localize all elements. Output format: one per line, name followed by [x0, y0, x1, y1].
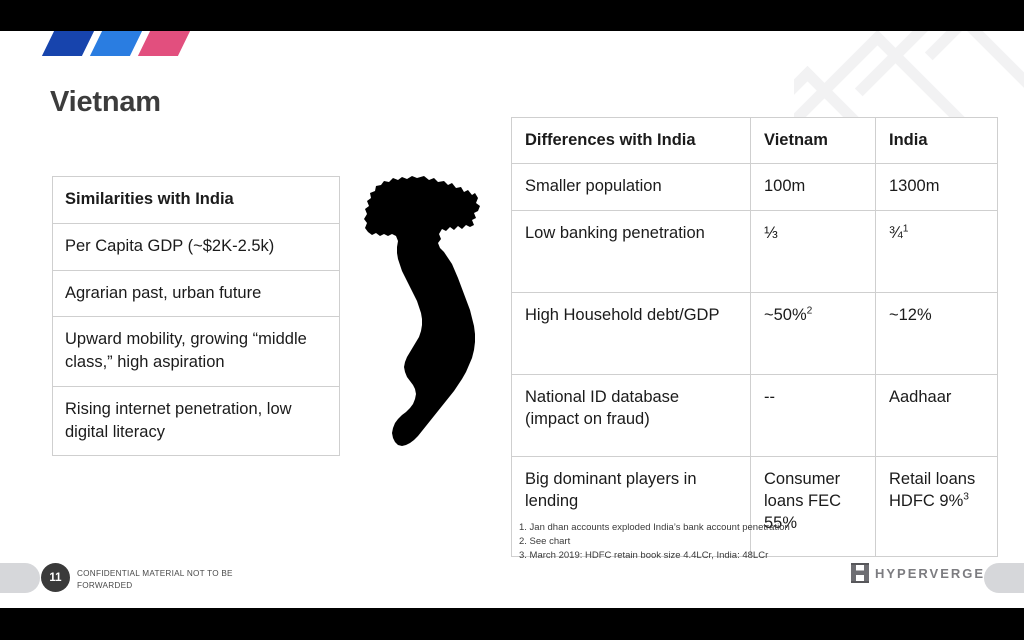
- similarity-item: Rising internet penetration, low digital…: [53, 386, 340, 456]
- difference-india-value: ~12%: [876, 292, 998, 374]
- similarities-header: Similarities with India: [53, 177, 340, 224]
- value-text: Retail loans HDFC 9%: [889, 470, 975, 510]
- footnote-item: 1. Jan dhan accounts exploded India’s ba…: [519, 521, 790, 535]
- table-row: Similarities with India: [53, 177, 340, 224]
- difference-label: National ID database (impact on fraud): [512, 374, 751, 456]
- difference-india-value: Aadhaar: [876, 374, 998, 456]
- difference-label: Low banking penetration: [512, 210, 751, 292]
- value-text: ¾: [889, 224, 903, 242]
- difference-vietnam-value: --: [751, 374, 876, 456]
- table-row: High Household debt/GDP ~50%2 ~12%: [512, 292, 998, 374]
- decorative-pill-left: [0, 563, 40, 593]
- footnotes-block: 1. Jan dhan accounts exploded India’s ba…: [519, 521, 790, 562]
- hyperverge-h-icon: [851, 563, 872, 583]
- footnote-ref: 1: [903, 223, 909, 234]
- page-title: Vietnam: [50, 86, 161, 119]
- table-row: Per Capita GDP (~$2K-2.5k): [53, 223, 340, 270]
- vietnam-map-silhouette: [362, 174, 498, 459]
- vietnam-map-path: [364, 176, 480, 446]
- similarity-item: Agrarian past, urban future: [53, 270, 340, 317]
- difference-india-value: Retail loans HDFC 9%3: [876, 456, 998, 556]
- footnote-ref: 2: [807, 305, 813, 316]
- top-letterbox-bar: [0, 0, 1024, 31]
- table-row: Smaller population 100m 1300m: [512, 164, 998, 210]
- page-number-badge: 11: [41, 563, 70, 592]
- brand-logo: HYPERVERGE: [851, 563, 985, 583]
- difference-vietnam-value: 100m: [751, 164, 876, 210]
- stripe-blue-dark: [42, 31, 94, 56]
- footnote-item: 3. March 2019: HDFC retain book size 4.4…: [519, 549, 790, 563]
- table-row: Low banking penetration ⅓ ¾1: [512, 210, 998, 292]
- similarity-item: Upward mobility, growing “middle class,”…: [53, 317, 340, 387]
- brand-name-text: HYPERVERGE: [875, 566, 985, 581]
- footnote-item: 2. See chart: [519, 535, 790, 549]
- value-text: ~50%: [764, 306, 807, 324]
- difference-label: High Household debt/GDP: [512, 292, 751, 374]
- table-row: Agrarian past, urban future: [53, 270, 340, 317]
- decorative-pill-right: [984, 563, 1024, 593]
- stripe-blue-light: [90, 31, 142, 56]
- table-header-row: Differences with India Vietnam India: [512, 118, 998, 164]
- table-row: National ID database (impact on fraud) -…: [512, 374, 998, 456]
- slide: Vietnam Similarities with India Per Capi…: [0, 0, 1024, 640]
- differences-header-india: India: [876, 118, 998, 164]
- footnote-ref: 3: [963, 491, 969, 502]
- difference-vietnam-value: ~50%2: [751, 292, 876, 374]
- difference-india-value: 1300m: [876, 164, 998, 210]
- confidentiality-notice: CONFIDENTIAL MATERIAL NOT TO BE FORWARDE…: [77, 568, 252, 593]
- difference-india-value: ¾1: [876, 210, 998, 292]
- similarities-table: Similarities with India Per Capita GDP (…: [52, 176, 340, 456]
- stripe-pink: [138, 31, 190, 56]
- brand-stripes-decoration: [38, 31, 198, 56]
- differences-table: Differences with India Vietnam India Sma…: [511, 117, 998, 557]
- differences-header-label: Differences with India: [512, 118, 751, 164]
- bottom-letterbox-bar: [0, 608, 1024, 640]
- difference-label: Smaller population: [512, 164, 751, 210]
- difference-vietnam-value: ⅓: [751, 210, 876, 292]
- similarity-item: Per Capita GDP (~$2K-2.5k): [53, 223, 340, 270]
- table-row: Upward mobility, growing “middle class,”…: [53, 317, 340, 387]
- table-row: Rising internet penetration, low digital…: [53, 386, 340, 456]
- differences-header-vietnam: Vietnam: [751, 118, 876, 164]
